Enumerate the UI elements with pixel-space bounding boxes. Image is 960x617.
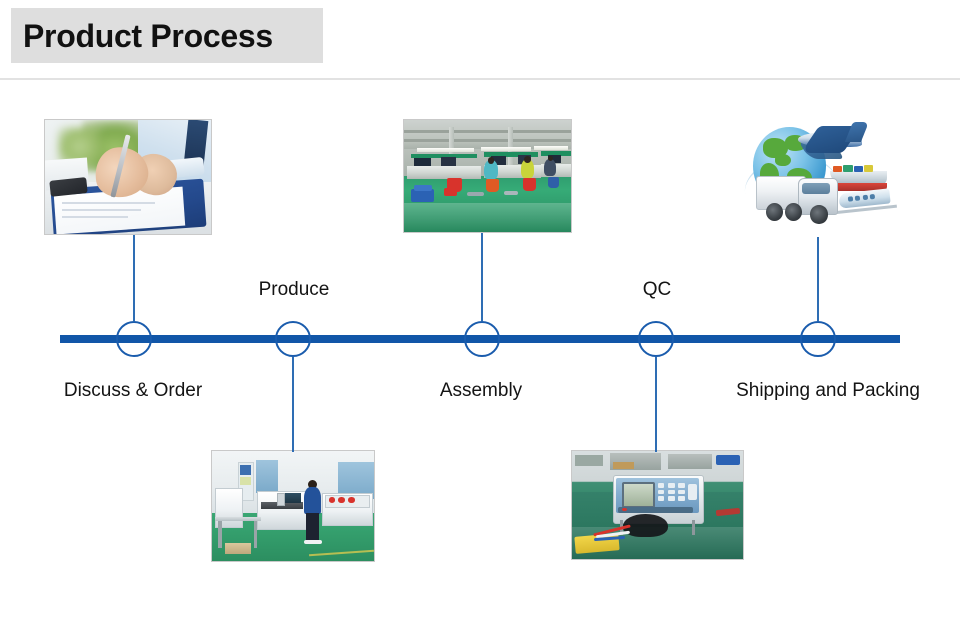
timeline-node-produce[interactable]: [275, 321, 311, 357]
page-title-box: Product Process: [11, 8, 323, 63]
timeline-node-qc[interactable]: [638, 321, 674, 357]
timeline-label-shipping-and-packing: Shipping and Packing: [736, 380, 920, 402]
timeline-node-shipping[interactable]: [800, 321, 836, 357]
header-divider: [0, 78, 960, 80]
connector-shipping: [817, 237, 819, 321]
connector-assembly: [481, 233, 483, 321]
timeline-node-assembly[interactable]: [464, 321, 500, 357]
photo-shipping: [740, 115, 900, 237]
product-process-slide: Product Process: [0, 0, 960, 617]
timeline-label-assembly: Assembly: [440, 380, 522, 402]
page-title: Product Process: [11, 20, 273, 52]
photo-produce: [211, 450, 375, 562]
photo-discuss-order: [44, 119, 212, 235]
timeline-node-discuss-order[interactable]: [116, 321, 152, 357]
photo-assembly: [403, 119, 572, 233]
timeline-label-produce: Produce: [259, 279, 330, 301]
timeline-label-qc: QC: [643, 279, 672, 301]
connector-discuss-order: [133, 235, 135, 321]
timeline-label-discuss-order: Discuss & Order: [64, 380, 202, 402]
connector-qc: [655, 357, 657, 452]
photo-qc: [571, 450, 744, 560]
connector-produce: [292, 357, 294, 452]
